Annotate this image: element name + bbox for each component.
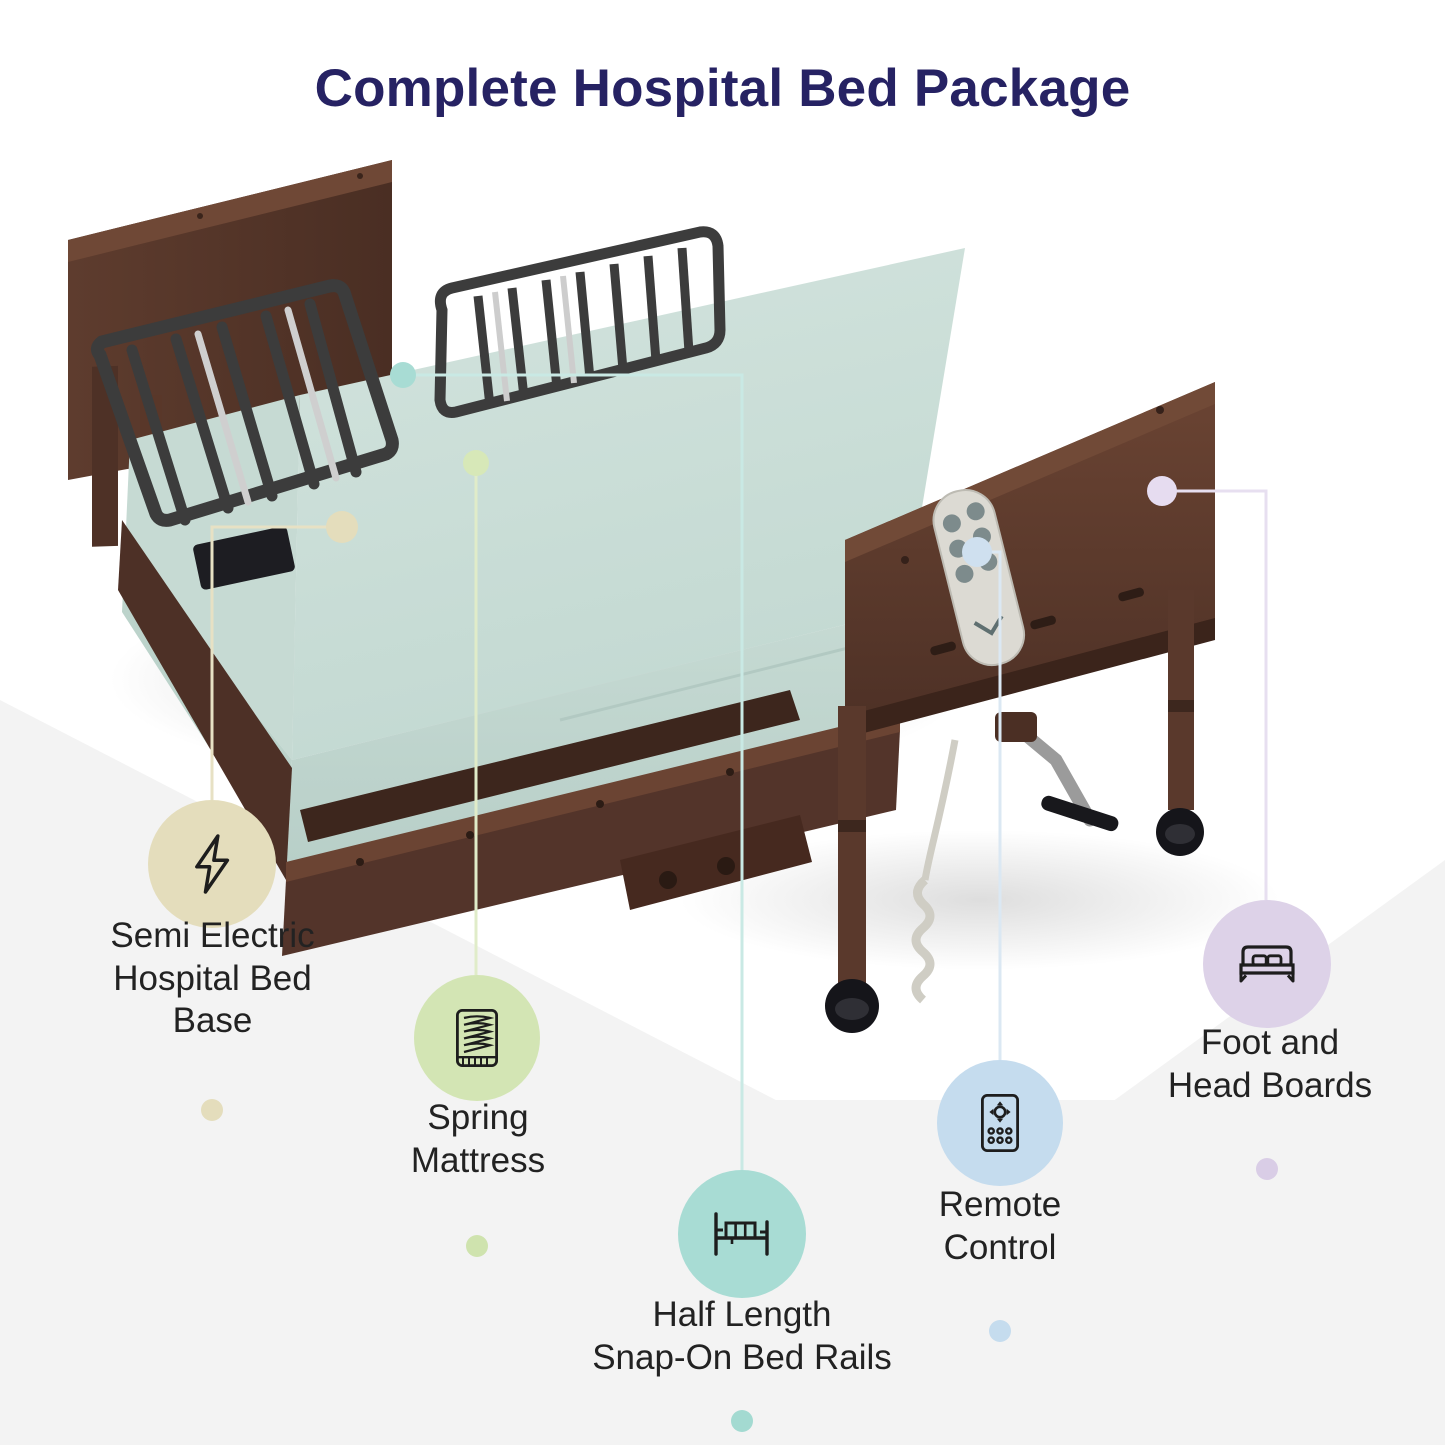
bed-rail-icon	[708, 1208, 776, 1260]
remote-control-icon-circle[interactable]	[937, 1060, 1063, 1186]
bed-rail-icon-circle[interactable]	[678, 1170, 806, 1298]
feature-dot-rails	[731, 1410, 753, 1432]
label-line-2: Mattress	[325, 1140, 631, 1183]
anchor-dot-boards	[1147, 476, 1177, 506]
label-line-1: Spring	[325, 1097, 631, 1140]
label-line-2: Head Boards	[1105, 1065, 1435, 1108]
lightning-bolt-icon-circle[interactable]	[148, 800, 276, 928]
label-line-1: Semi Electric	[20, 915, 405, 958]
label-line-1: Half Length	[540, 1294, 944, 1337]
anchor-dot-base	[326, 511, 358, 543]
feature-dot-mattress	[466, 1235, 488, 1257]
anchor-dot-remote	[962, 537, 992, 567]
label-line-2: Hospital Bed	[20, 958, 405, 1001]
lightning-bolt-icon	[184, 831, 240, 897]
spring-mattress-icon	[451, 1005, 503, 1071]
label-line-1: Remote	[856, 1184, 1144, 1227]
feature-dot-remote	[989, 1320, 1011, 1342]
feature-label-base: Semi Electric Hospital Bed Base	[20, 915, 405, 1043]
feature-label-mattress: Spring Mattress	[325, 1097, 631, 1182]
label-line-2: Snap-On Bed Rails	[540, 1337, 944, 1380]
anchor-dot-mattress	[463, 450, 489, 476]
feature-dot-boards	[1256, 1158, 1278, 1180]
feature-label-remote: Remote Control	[856, 1184, 1144, 1269]
head-board-icon-circle[interactable]	[1203, 900, 1331, 1028]
label-line-3: Base	[20, 1000, 405, 1043]
feature-label-boards: Foot and Head Boards	[1105, 1022, 1435, 1107]
head-board-icon	[1235, 939, 1299, 989]
label-line-2: Control	[856, 1227, 1144, 1270]
feature-dot-base	[201, 1099, 223, 1121]
infographic-canvas: Complete Hospital Bed Package	[0, 0, 1445, 1445]
remote-control-icon	[976, 1091, 1024, 1155]
label-line-1: Foot and	[1105, 1022, 1435, 1065]
feature-label-rails: Half Length Snap-On Bed Rails	[540, 1294, 944, 1379]
anchor-dot-rails	[390, 362, 416, 388]
spring-mattress-icon-circle[interactable]	[414, 975, 540, 1101]
